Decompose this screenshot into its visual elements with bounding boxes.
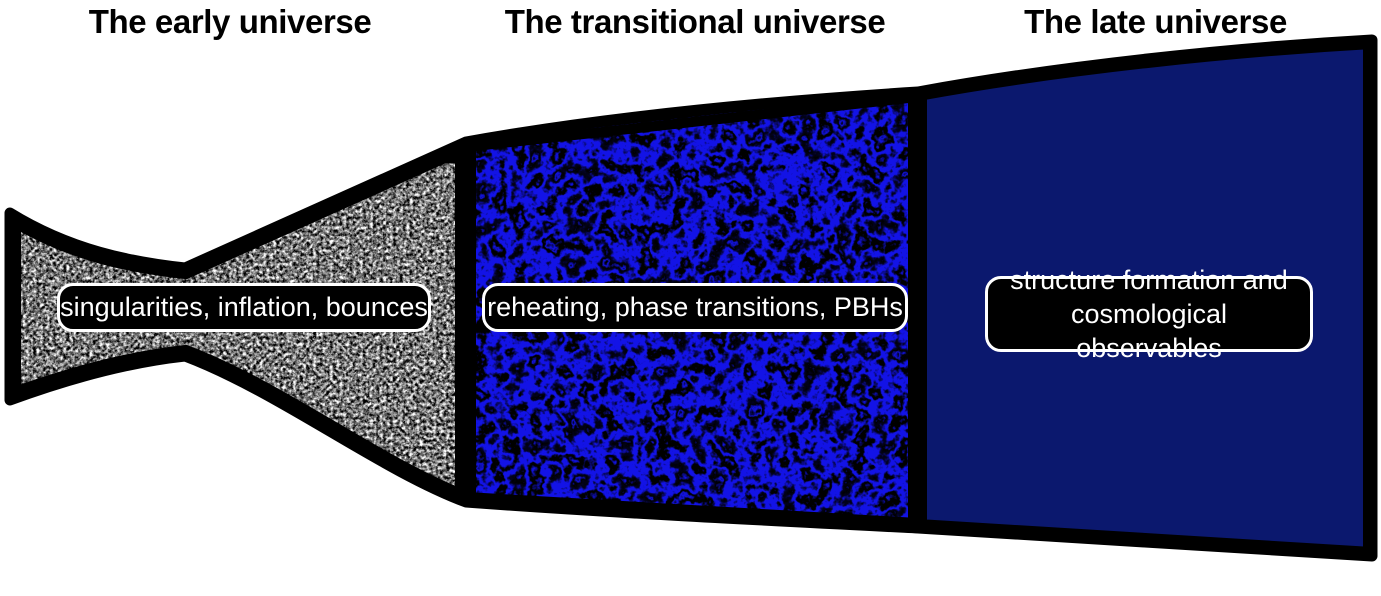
callout-early-universe[interactable]: singularities, inflation, bounces <box>57 283 431 332</box>
callout-late-universe[interactable]: structure formation and cosmological obs… <box>985 276 1313 352</box>
callout-transitional-universe[interactable]: reheating, phase transitions, PBHs <box>482 283 908 332</box>
callout-late-text-line1: structure formation and <box>1000 263 1298 297</box>
callout-transitional-text: reheating, phase transitions, PBHs <box>487 291 903 324</box>
figure-root: The early universe The transitional univ… <box>0 0 1381 596</box>
callout-late-text-line2: cosmological observables <box>1000 297 1298 365</box>
callout-early-text: singularities, inflation, bounces <box>60 291 428 324</box>
